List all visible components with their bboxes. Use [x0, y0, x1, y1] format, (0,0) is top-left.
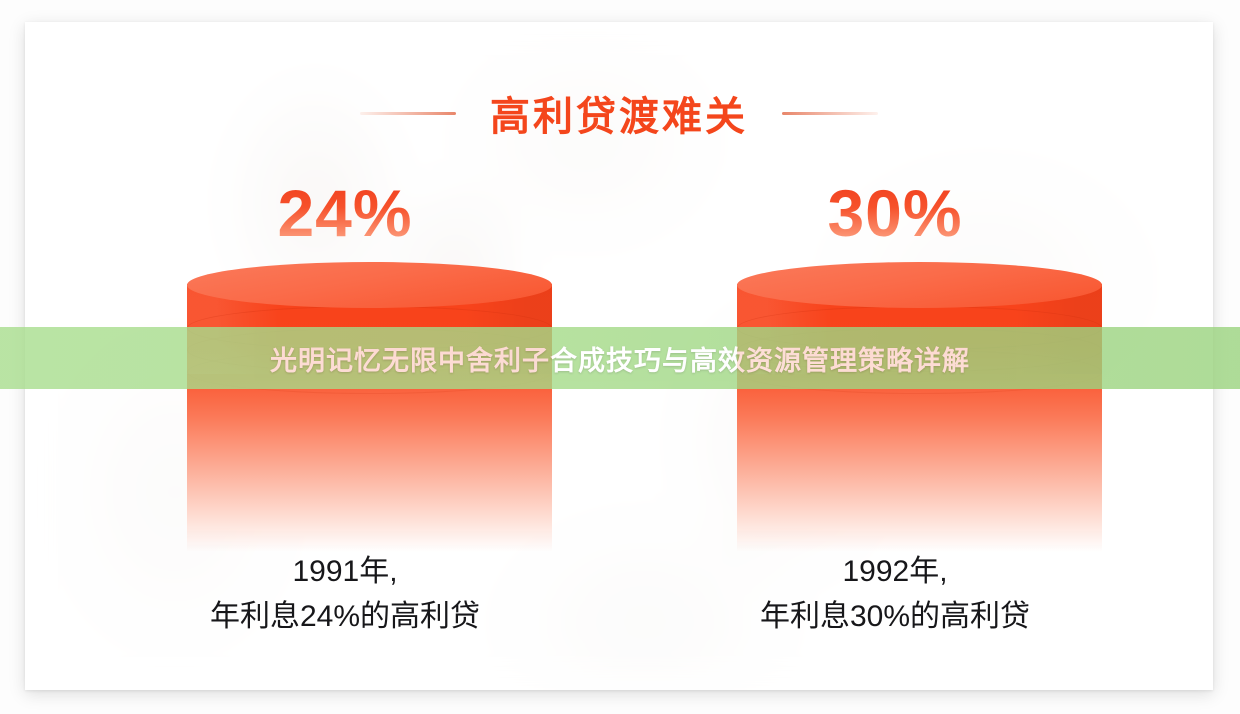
overlay-banner-text: 光明记忆无限中舍利子合成技巧与高效资源管理策略详解	[270, 339, 970, 378]
caption-1992: 1992年, 年利息30%的高利贷	[635, 550, 1155, 640]
cylinder-top-face	[187, 262, 552, 308]
cylinder-bar-1991	[187, 262, 552, 562]
cylinder-bar-1992	[737, 262, 1102, 562]
percent-value-30: 30%	[635, 175, 1155, 251]
percent-value-24: 24%	[85, 175, 605, 251]
cylinder-body	[187, 284, 552, 552]
caption-1991: 1991年, 年利息24%的高利贷	[85, 550, 605, 640]
caption-detail: 年利息24%的高利贷	[85, 594, 605, 640]
caption-year: 1992年,	[635, 550, 1155, 594]
screenshot-root: 高利贷渡难关 24%	[0, 0, 1240, 714]
cylinder-top-face	[737, 262, 1102, 308]
caption-year: 1991年,	[85, 550, 605, 594]
cylinder-body	[737, 284, 1102, 552]
overlay-banner: 光明记忆无限中舍利子合成技巧与高效资源管理策略详解	[0, 327, 1240, 389]
caption-detail: 年利息30%的高利贷	[635, 594, 1155, 640]
